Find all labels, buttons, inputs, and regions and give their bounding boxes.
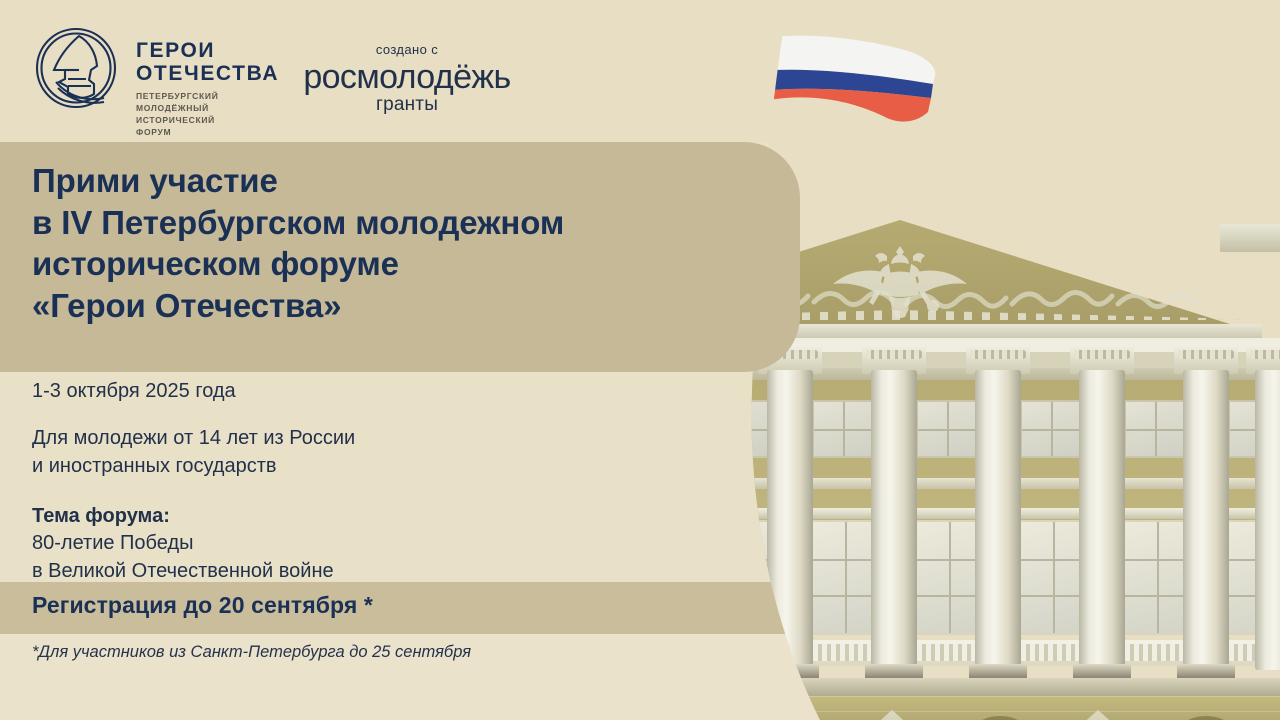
door-pediment: [1044, 710, 1152, 720]
title-line-3: историческом форуме: [32, 243, 792, 285]
registration-footnote: *Для участников из Санкт-Петербурга до 2…: [32, 643, 471, 662]
theme-line-2: в Великой Отечественной войне: [32, 557, 552, 585]
flagpole-finial: [757, 8, 768, 26]
arched-opening: [546, 716, 630, 720]
balustrade: [700, 640, 792, 666]
window-upper: [604, 400, 666, 458]
window-upper: [916, 400, 978, 458]
event-audience: Для молодежи от 14 лет из России и иност…: [32, 424, 552, 481]
logo-title-line2: ОТЕЧЕСТВА: [136, 63, 279, 86]
column: [871, 370, 917, 670]
column: [559, 370, 605, 670]
partner-created-with-label: создано с: [292, 42, 522, 57]
column-base: [657, 664, 715, 678]
event-info: 1-3 октября 2025 года Для молодежи от 14…: [32, 379, 552, 586]
title-line-1: Прими участие: [32, 160, 792, 202]
window-tall: [1018, 520, 1088, 635]
window-hood: [594, 508, 680, 519]
window-tall: [602, 520, 672, 635]
column: [1183, 370, 1229, 670]
window-upper: [1020, 400, 1082, 458]
roof-block-right: [1220, 224, 1280, 252]
rusticated-basement: [520, 696, 1280, 720]
door-pediment: [632, 710, 740, 720]
rosmolodezh-grants-logo: создано с росмолодёжь гранты: [292, 42, 522, 116]
partner-name: росмолодёжь: [292, 59, 522, 95]
theme-value: 80-летие Победы в Великой Отечественной …: [32, 529, 552, 586]
registration-deadline: Регистрация до 20 сентября *: [32, 592, 373, 619]
balustrade: [596, 640, 688, 666]
column-base: [1073, 664, 1131, 678]
audience-line-2: и иностранных государств: [32, 452, 552, 480]
page-title: Прими участие в IV Петербургском молодеж…: [32, 160, 792, 327]
window-tall: [1122, 520, 1192, 635]
plinth: [520, 678, 1280, 696]
poster-root: ГЕРОИ ОТЕЧЕСТВА ПЕТЕРБУРГСКИЙ МОЛОДЁЖНЫЙ…: [0, 0, 1280, 720]
audience-line-1: Для молодежи от 14 лет из России: [32, 424, 552, 452]
column: [975, 370, 1021, 670]
forum-logo: ГЕРОИ ОТЕЧЕСТВА ПЕТЕРБУРГСКИЙ МОЛОДЁЖНЫЙ…: [34, 26, 279, 138]
theme-line-1: 80-летие Победы: [32, 529, 552, 557]
column-base: [969, 664, 1027, 678]
title-line-4: «Герои Отечества»: [32, 285, 792, 327]
column: [1079, 370, 1125, 670]
partner-program-label: гранты: [292, 95, 522, 116]
column-base: [1177, 664, 1235, 678]
door-pediment: [838, 710, 946, 720]
logo-title-line1: ГЕРОИ: [136, 40, 279, 63]
column-base: [865, 664, 923, 678]
column: [663, 370, 709, 670]
title-line-2: в IV Петербургском молодежном: [32, 202, 792, 244]
logo-subtitle-line3: ИСТОРИЧЕСКИЙ: [136, 115, 279, 127]
window-tall: [914, 520, 984, 635]
logo-subtitle-line2: МОЛОДЁЖНЫЙ: [136, 103, 279, 115]
arched-opening: [958, 716, 1042, 720]
logo-subtitle-line1: ПЕТЕРБУРГСКИЙ: [136, 91, 279, 103]
event-dates: 1-3 октября 2025 года: [32, 379, 552, 404]
arched-opening: [1164, 716, 1248, 720]
theme-label: Тема форума:: [32, 503, 552, 529]
green-tree: [528, 28, 828, 720]
column: [1255, 370, 1280, 670]
window-upper: [1124, 400, 1186, 458]
column-base: [553, 664, 611, 678]
soldier-profile-circle-emblem-icon: [34, 26, 118, 110]
logo-subtitle-line4: ФОРУМ: [136, 127, 279, 139]
